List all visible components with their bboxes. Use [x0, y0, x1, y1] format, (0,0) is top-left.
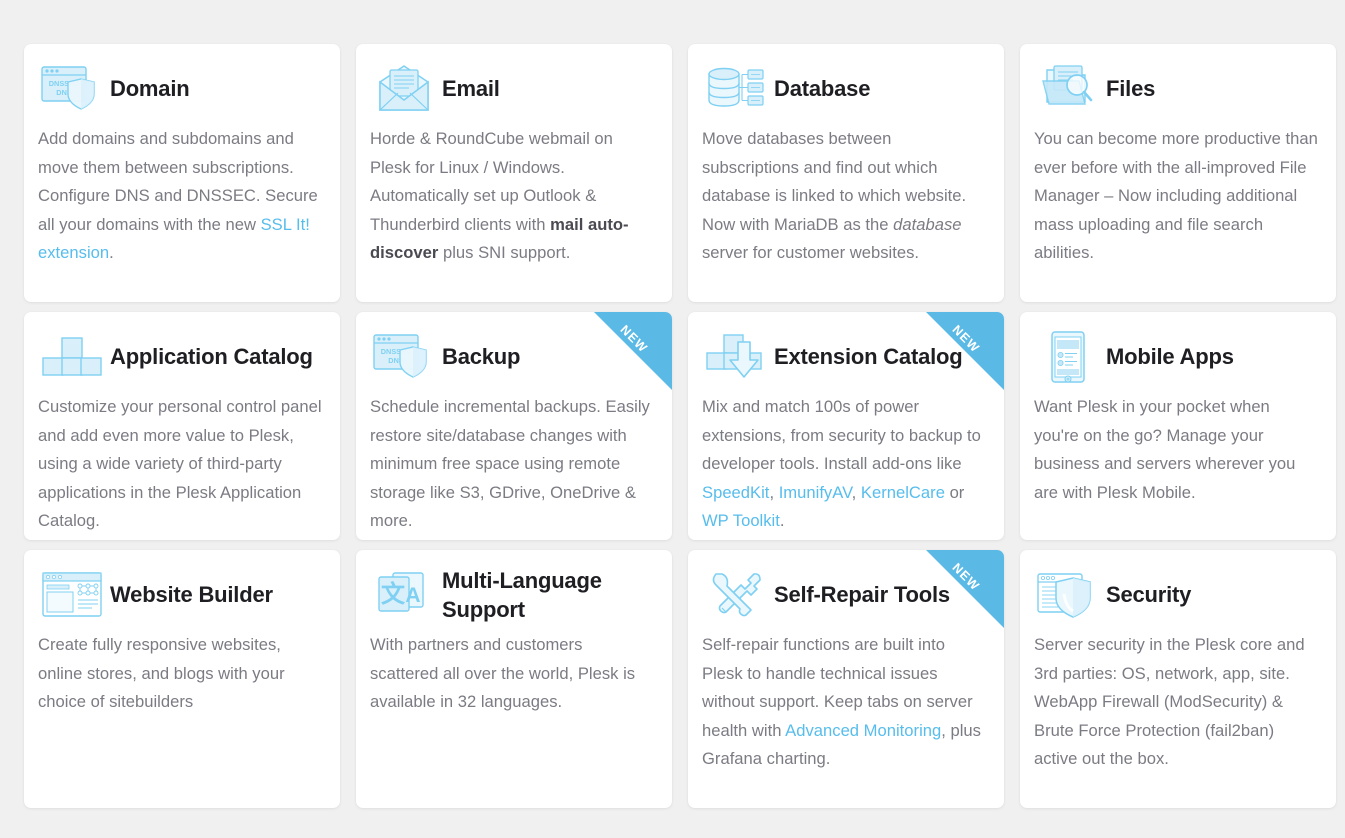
card-header: DNSSEC DNS Domain	[38, 58, 323, 120]
description-text: Schedule incremental backups. Easily res…	[370, 397, 650, 530]
smartphone-icon	[1034, 328, 1102, 386]
description-text: .	[780, 511, 785, 530]
card-title: Multi-Language Support	[438, 566, 655, 625]
description-text: Want Plesk in your pocket when you're on…	[1034, 397, 1295, 502]
feature-card-backup: DNSSEC DNS BackupSchedule incremental ba…	[356, 312, 672, 540]
feature-card-security: SecurityServer security in the Plesk cor…	[1020, 550, 1336, 808]
card-link[interactable]: Advanced Monitoring	[785, 721, 941, 740]
card-description: Self-repair functions are built into Ple…	[702, 631, 987, 774]
browser-wireframe-icon	[38, 566, 106, 624]
card-title: Files	[1102, 74, 1155, 103]
card-description: With partners and customers scattered al…	[370, 631, 655, 717]
feature-card-grid: DNSSEC DNS DomainAdd domains and subdoma…	[0, 0, 1345, 808]
card-header: Mobile Apps	[1034, 326, 1319, 388]
card-header: Application Catalog	[38, 326, 323, 388]
italic-text: database	[893, 215, 961, 234]
description-text: or	[945, 483, 964, 502]
feature-card-self-repair-tools: Self-Repair ToolsSelf-repair functions a…	[688, 550, 1004, 808]
description-text: You can become more productive than ever…	[1034, 129, 1318, 262]
card-header: Security	[1034, 564, 1319, 626]
card-header: Self-Repair Tools	[702, 564, 987, 626]
card-header: Extension Catalog	[702, 326, 987, 388]
description-text: Mix and match 100s of power extensions, …	[702, 397, 981, 473]
card-title: Application Catalog	[106, 342, 313, 371]
card-link[interactable]: WP Toolkit	[702, 511, 780, 530]
card-header: Files	[1034, 58, 1319, 120]
card-header: DNSSEC DNS Backup	[370, 326, 655, 388]
svg-text:A: A	[405, 584, 420, 607]
open-envelope-letter-icon	[370, 60, 438, 118]
feature-card-database: DatabaseMove databases between subscript…	[688, 44, 1004, 302]
description-text: .	[109, 243, 114, 262]
card-title: Extension Catalog	[770, 342, 963, 371]
card-link[interactable]: KernelCare	[861, 483, 945, 502]
feature-card-email: EmailHorde & RoundCube webmail on Plesk …	[356, 44, 672, 302]
card-description: Customize your personal control panel an…	[38, 393, 323, 536]
card-header: Email	[370, 58, 655, 120]
card-title: Email	[438, 74, 500, 103]
dnssec-browser-shield-icon: DNSSEC DNS	[370, 328, 438, 386]
description-text: ,	[769, 483, 778, 502]
card-description: Schedule incremental backups. Easily res…	[370, 393, 655, 536]
card-title: Website Builder	[106, 580, 273, 609]
feature-card-mobile-apps: Mobile AppsWant Plesk in your pocket whe…	[1020, 312, 1336, 540]
card-description: Horde & RoundCube webmail on Plesk for L…	[370, 125, 655, 268]
browser-shield-icon	[1034, 566, 1102, 624]
description-text: plus SNI support.	[438, 243, 570, 262]
card-title: Domain	[106, 74, 189, 103]
feature-card-domain: DNSSEC DNS DomainAdd domains and subdoma…	[24, 44, 340, 302]
card-description: Move databases between subscriptions and…	[702, 125, 987, 268]
description-text: server for customer websites.	[702, 243, 919, 262]
card-description: Add domains and subdomains and move them…	[38, 125, 323, 268]
svg-text:文: 文	[381, 580, 406, 608]
feature-card-extension-catalog: Extension CatalogMix and match 100s of p…	[688, 312, 1004, 540]
card-description: You can become more productive than ever…	[1034, 125, 1319, 268]
card-link[interactable]: SpeedKit	[702, 483, 769, 502]
translate-cards-icon: 文 A	[370, 566, 438, 624]
dnssec-browser-shield-icon: DNSSEC DNS	[38, 60, 106, 118]
card-link[interactable]: ImunifyAV	[779, 483, 852, 502]
wrench-screwdriver-icon	[702, 566, 770, 624]
card-title: Backup	[438, 342, 520, 371]
description-text: Create fully responsive websites, online…	[38, 635, 285, 711]
feature-card-website-builder: Website BuilderCreate fully responsive w…	[24, 550, 340, 808]
blocks-catalog-icon	[38, 328, 106, 386]
feature-card-application-catalog: Application CatalogCustomize your person…	[24, 312, 340, 540]
card-header: 文 A Multi-Language Support	[370, 564, 655, 626]
folder-magnifier-icon	[1034, 60, 1102, 118]
database-cylinder-icon	[702, 60, 770, 118]
card-header: Database	[702, 58, 987, 120]
card-title: Mobile Apps	[1102, 342, 1234, 371]
description-text: Server security in the Plesk core and 3r…	[1034, 635, 1305, 768]
description-text: Customize your personal control panel an…	[38, 397, 322, 530]
card-description: Want Plesk in your pocket when you're on…	[1034, 393, 1319, 507]
card-title: Security	[1102, 580, 1191, 609]
card-description: Mix and match 100s of power extensions, …	[702, 393, 987, 536]
feature-card-multi-language-support: 文 A Multi-Language SupportWith partners …	[356, 550, 672, 808]
blocks-download-arrow-icon	[702, 328, 770, 386]
description-text: ,	[852, 483, 861, 502]
card-title: Self-Repair Tools	[770, 580, 950, 609]
feature-card-files: FilesYou can become more productive than…	[1020, 44, 1336, 302]
card-title: Database	[770, 74, 870, 103]
description-text: With partners and customers scattered al…	[370, 635, 635, 711]
card-description: Create fully responsive websites, online…	[38, 631, 323, 717]
card-header: Website Builder	[38, 564, 323, 626]
card-description: Server security in the Plesk core and 3r…	[1034, 631, 1319, 774]
